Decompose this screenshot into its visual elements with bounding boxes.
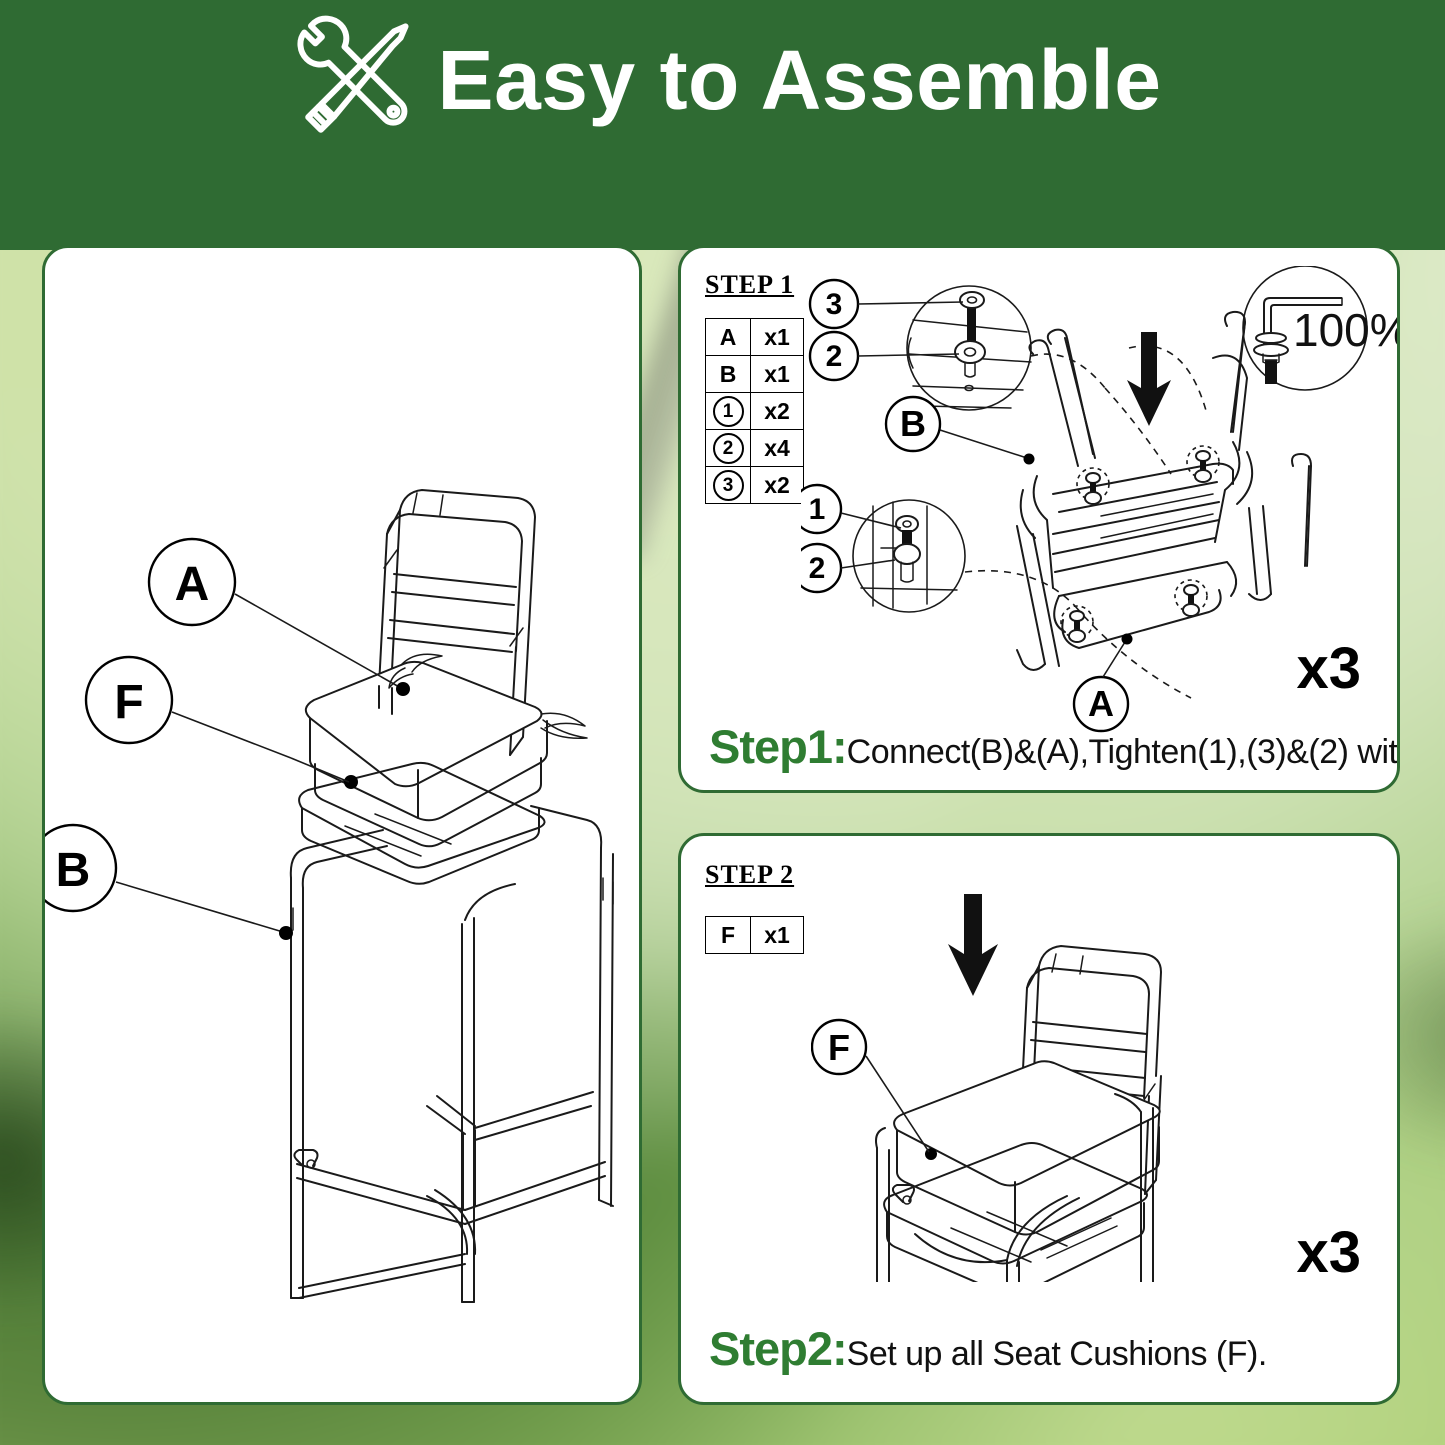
wrench-screwdriver-icon: [284, 11, 416, 143]
part-qty: x2: [751, 393, 804, 430]
svg-text:F: F: [114, 676, 143, 729]
table-row: A x1: [706, 319, 804, 356]
step1-caption-text: Connect(B)&(A),Tighten(1),(3)&(2) with(1…: [847, 733, 1400, 772]
step2-panel: STEP 2 F x1: [678, 833, 1400, 1405]
table-row: F x1: [706, 917, 804, 954]
svg-text:2: 2: [809, 552, 826, 585]
part-qty: x2: [751, 467, 804, 504]
table-row: 2 x4: [706, 430, 804, 467]
step2-caption-label: Step2:: [709, 1321, 847, 1376]
step2-heading: STEP 2: [705, 860, 794, 890]
stool-stretchers: [294, 1092, 605, 1298]
step1-caption-label: Step1:: [709, 719, 847, 774]
svg-text:3: 3: [826, 288, 843, 321]
svg-text:1: 1: [809, 493, 826, 526]
step2-multiplier: x3: [1296, 1224, 1361, 1282]
seat-cushion-step2: [894, 1061, 1160, 1234]
page-title: Easy to Assemble: [438, 38, 1162, 122]
part-label: F: [706, 917, 751, 954]
svg-text:F: F: [828, 1027, 850, 1068]
svg-text:B: B: [900, 403, 926, 444]
down-arrow-step1: [1127, 332, 1171, 426]
step2-parts-table: F x1: [705, 916, 804, 954]
svg-text:B: B: [56, 844, 91, 897]
step1-multiplier: x3: [1296, 640, 1361, 698]
part-qty: x1: [751, 917, 804, 954]
callout-3: 3: [810, 280, 963, 328]
part-label: B: [706, 356, 751, 393]
detail-circle-screw-3-2: [907, 286, 1031, 410]
step1-caption: Step1: Connect(B)&(A),Tighten(1),(3)&(2)…: [681, 719, 1397, 774]
down-arrow-step2: [948, 894, 998, 996]
step1-parts-table: A x1 B x1 1 x2 2 x4 3 x2: [705, 318, 804, 504]
callout-b: B: [45, 825, 293, 940]
table-row: 3 x2: [706, 467, 804, 504]
circled-part-number: 3: [713, 470, 744, 501]
part-label: 3: [706, 467, 751, 504]
part-qty: x1: [751, 319, 804, 356]
step2-caption-text: Set up all Seat Cushions (F).: [847, 1335, 1267, 1374]
svg-text:2: 2: [826, 340, 843, 373]
bolt-marks: [1061, 446, 1219, 642]
overview-panel: A F B: [42, 245, 642, 1405]
part-label: 2: [706, 430, 751, 467]
badge-100-label: 100%: [1293, 304, 1400, 356]
step1-heading: STEP 1: [705, 270, 794, 300]
table-row: B x1: [706, 356, 804, 393]
seat-cushion: [306, 654, 587, 846]
step2-chair-diagram: F: [811, 862, 1371, 1282]
svg-text:A: A: [1088, 683, 1114, 724]
circled-part-number: 1: [713, 396, 744, 427]
step1-panel: STEP 1 A x1 B x1 1 x2 2 x4 3 x2: [678, 245, 1400, 793]
leader-dashed-top: [1031, 354, 1105, 388]
part-qty: x1: [751, 356, 804, 393]
leader-dashed-lower: [965, 571, 1075, 606]
part-label: A: [706, 319, 751, 356]
part-label: 1: [706, 393, 751, 430]
part-qty: x4: [751, 430, 804, 467]
bar-stool-overview-diagram: A F B: [45, 248, 639, 1402]
header-banner: Easy to Assemble: [0, 0, 1445, 250]
detail-circle-screw-1-2: [853, 500, 965, 612]
callout-1: 1: [801, 485, 901, 533]
table-row: 1 x2: [706, 393, 804, 430]
circled-part-number: 2: [713, 433, 744, 464]
step2-caption: Step2: Set up all Seat Cushions (F).: [681, 1321, 1397, 1376]
callout-2-lower: 2: [801, 544, 895, 592]
callout-a: A: [149, 539, 410, 696]
callout-a-step1: A: [1074, 634, 1133, 732]
svg-text:A: A: [175, 558, 210, 611]
